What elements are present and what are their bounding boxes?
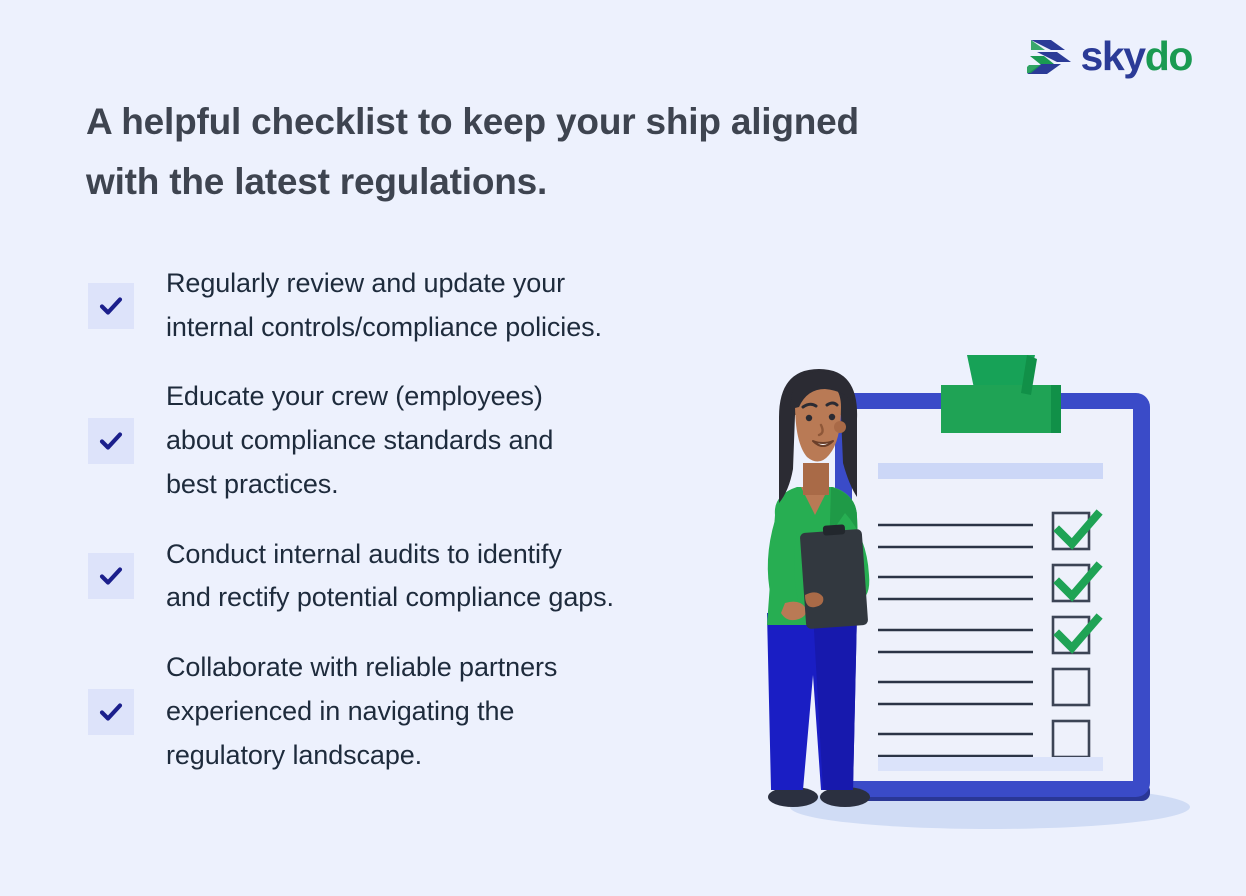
logo-word-do: do bbox=[1145, 33, 1192, 79]
eye-left bbox=[806, 415, 812, 421]
checkmark-icon bbox=[88, 418, 134, 464]
skydo-logo: skydo bbox=[1027, 36, 1192, 77]
clipboard-checkbox bbox=[1053, 669, 1089, 705]
eye-right bbox=[829, 414, 835, 420]
handheld-clipboard bbox=[800, 524, 869, 629]
list-item: Conduct internal audits to identify and … bbox=[88, 533, 748, 620]
skydo-wordmark: skydo bbox=[1080, 36, 1192, 77]
list-item-text: Collaborate with reliable partners exper… bbox=[166, 646, 557, 777]
list-item-line: Conduct internal audits to identify bbox=[166, 533, 614, 577]
list-item-line: Collaborate with reliable partners bbox=[166, 646, 557, 690]
list-item-line: and rectify potential compliance gaps. bbox=[166, 576, 614, 620]
neck bbox=[803, 463, 829, 495]
list-item: Collaborate with reliable partners exper… bbox=[88, 646, 748, 777]
woman-with-clipboard-illustration bbox=[745, 345, 1215, 845]
list-item-line: best practices. bbox=[166, 463, 553, 507]
list-item-line: experienced in navigating the bbox=[166, 690, 557, 734]
list-item-text: Regularly review and update your interna… bbox=[166, 262, 602, 349]
list-item-line: Educate your crew (employees) bbox=[166, 375, 553, 419]
checkmark-icon bbox=[88, 689, 134, 735]
clipboard-clip bbox=[941, 355, 1061, 433]
list-item-line: about compliance standards and bbox=[166, 419, 553, 463]
list-item-text: Educate your crew (employees) about comp… bbox=[166, 375, 553, 506]
list-item-line: internal controls/compliance policies. bbox=[166, 306, 602, 350]
checklist: Regularly review and update your interna… bbox=[88, 262, 748, 803]
list-item: Educate your crew (employees) about comp… bbox=[88, 375, 748, 506]
headline-line-1: A helpful checklist to keep your ship al… bbox=[86, 92, 986, 152]
skydo-chevron-logo-icon bbox=[1027, 37, 1073, 77]
list-item-text: Conduct internal audits to identify and … bbox=[166, 533, 614, 620]
headline-line-2: with the latest regulations. bbox=[86, 152, 986, 212]
list-item-line: regulatory landscape. bbox=[166, 734, 557, 778]
checkmark-icon bbox=[88, 553, 134, 599]
checkmark-icon bbox=[88, 283, 134, 329]
logo-word-sky: sky bbox=[1080, 33, 1144, 79]
page-title: A helpful checklist to keep your ship al… bbox=[86, 92, 986, 212]
list-item-line: Regularly review and update your bbox=[166, 262, 602, 306]
list-item: Regularly review and update your interna… bbox=[88, 262, 748, 349]
ear bbox=[834, 421, 846, 433]
page-title-bar bbox=[878, 463, 1103, 479]
